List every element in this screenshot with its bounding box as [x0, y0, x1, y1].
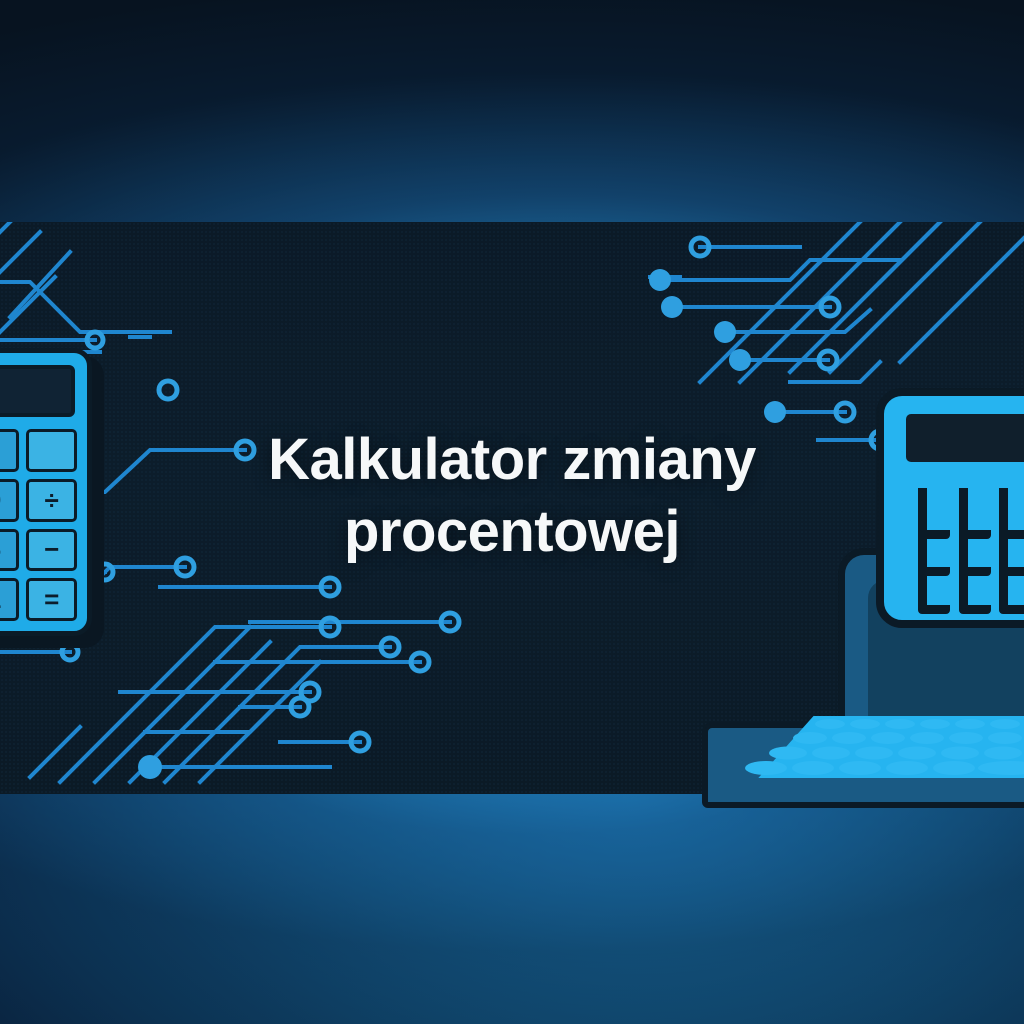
background-glow-top [0, 0, 1024, 240]
laptop-keyboard [710, 712, 1024, 782]
calc-key-equals: = [26, 578, 77, 621]
calc-key-1: 1 [0, 578, 19, 621]
background-glow-bottom [0, 779, 1024, 1024]
screen-segment [0, 369, 71, 413]
hero-banner: 9 ÷ 6 − 1 = [0, 0, 1024, 1024]
left-calculator-screen [0, 365, 75, 417]
page-title: Kalkulator zmiany procentowej [0, 424, 1024, 568]
